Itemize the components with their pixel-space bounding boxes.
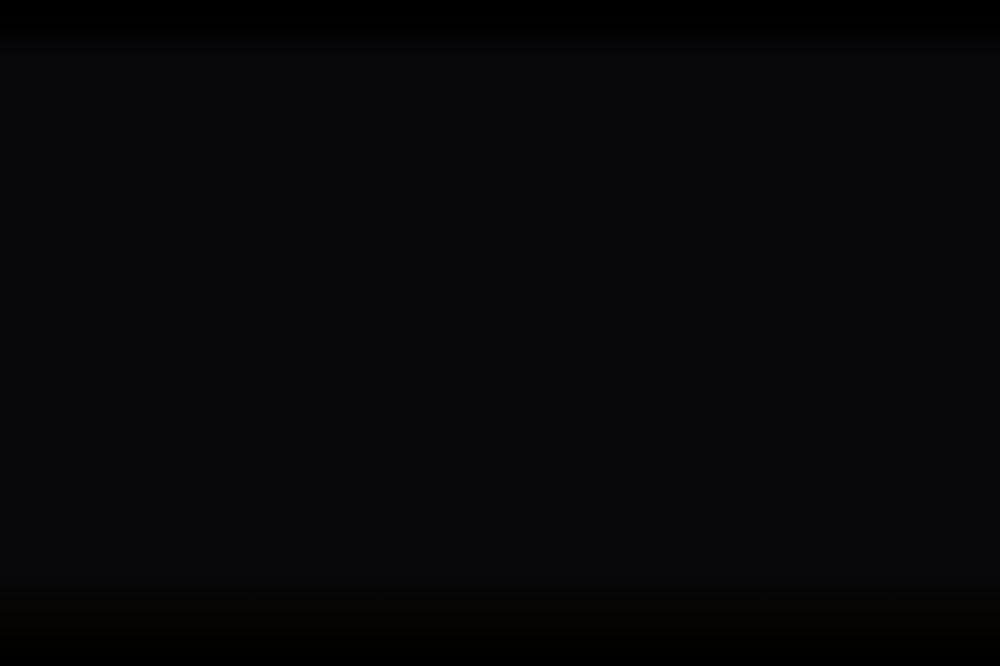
tablet-icon bbox=[463, 380, 486, 412]
tv-sync-highlight-box bbox=[260, 244, 305, 275]
annotation-tablet-sync-text: Syncing tablet to phone bbox=[493, 379, 578, 413]
annotation-pizza: Pizza is almost done bbox=[679, 399, 753, 432]
annotation-tablet-sync: Syncing tablet to phone bbox=[463, 379, 578, 413]
annotation-security-camera: Security camera is on bbox=[909, 252, 954, 323]
door-handle bbox=[57, 321, 65, 351]
welcome-body-line-2: your tablet and TV bbox=[576, 223, 741, 247]
tv-screen-image bbox=[274, 271, 375, 339]
signal-node-center bbox=[532, 209, 567, 244]
annotation-volume-right-line-1: Increasing soccer bbox=[762, 109, 868, 127]
welcome-body-line-1: Syncing your game to bbox=[576, 202, 741, 226]
tv-soccer-player-a bbox=[294, 298, 308, 322]
presenter-glasses bbox=[643, 484, 679, 492]
annotation-tv-sync: Syncing TV with phone bbox=[292, 217, 354, 246]
thermostat-value: 30° bbox=[415, 259, 436, 275]
books-on-ottoman bbox=[144, 492, 217, 515]
speaker-volume-icon bbox=[718, 114, 754, 141]
annotation-tablet-sync-line-1: Syncing tablet bbox=[493, 379, 578, 397]
projection-screen: 30° Tomorrow's home connectivity evoluti… bbox=[0, 0, 1000, 664]
slide-person-right-hand bbox=[885, 383, 907, 409]
annotation-lights: It's getting darker out. Turning on ligh… bbox=[74, 330, 160, 374]
annotation-pizza-line-2: almost done bbox=[680, 415, 754, 432]
welcome-headline: Welcome home, Matt bbox=[575, 171, 792, 202]
annotation-volume-left-text: Increasing soccer game volume bbox=[51, 186, 146, 216]
annotation-volume-left: Increasing soccer game volume bbox=[51, 186, 184, 216]
shield-lock-icon bbox=[0, 290, 11, 315]
annotation-volume-right: Increasing soccer game volume bbox=[718, 109, 868, 144]
annotation-tv-sync-line-1: Syncing TV bbox=[292, 217, 353, 232]
presenter-hands bbox=[648, 580, 678, 600]
annotation-lights-text: It's getting darker out. Turning on ligh… bbox=[74, 330, 160, 374]
tv-soccer-player-c bbox=[339, 299, 351, 322]
presenter bbox=[606, 462, 722, 666]
presenter-jacket-right bbox=[664, 518, 712, 636]
annotation-door-open: Opening door to let in some fresh air bbox=[0, 287, 121, 317]
annotation-fireplace: It's a bit cool out. Turning on the fire… bbox=[391, 294, 520, 324]
annotation-front-door-text: Front door locked bbox=[596, 287, 659, 320]
presenter-leg-separation bbox=[662, 658, 666, 666]
speaker-volume-icon bbox=[153, 189, 183, 212]
smart-speaker bbox=[853, 483, 905, 568]
tablet-on-counter bbox=[408, 428, 494, 462]
pedestal-bowl-stem bbox=[629, 383, 635, 393]
slide-person-with-phone bbox=[776, 196, 939, 489]
tv-soccer-player-b bbox=[317, 302, 329, 325]
annotation-security-camera-text: Security camera is on bbox=[909, 252, 953, 295]
annotation-security-camera-line-2: camera bbox=[909, 266, 953, 281]
wall-television bbox=[269, 266, 380, 344]
thermostat-dial-icon: 30° bbox=[403, 245, 448, 290]
annotation-door-open-line-2: in some fresh air bbox=[18, 301, 120, 317]
annotation-volume-right-text: Increasing soccer game volume bbox=[762, 109, 868, 143]
presenter-hair bbox=[637, 462, 685, 484]
presentation-photo: 30° Tomorrow's home connectivity evoluti… bbox=[0, 0, 1000, 666]
slide-person-legs bbox=[805, 397, 893, 491]
annotation-pizza-text: Pizza is almost done bbox=[679, 399, 753, 432]
annotation-fireplace-text: It's a bit cool out. Turning on the fire… bbox=[391, 294, 520, 324]
presenter-jacket-left bbox=[615, 518, 661, 636]
annotation-lights-line-3: Turning on light. bbox=[74, 358, 160, 374]
knife-block bbox=[585, 316, 620, 369]
annotation-security-camera-line-1: Security bbox=[909, 252, 953, 267]
annotation-tablet-sync-line-2: to phone bbox=[493, 395, 578, 413]
annotation-volume-left-line-2: game volume bbox=[52, 200, 146, 216]
wifi-icon bbox=[910, 300, 942, 323]
tablet-screen bbox=[412, 431, 490, 458]
shield-lock-icon bbox=[565, 291, 588, 318]
slide-person-shirt bbox=[825, 259, 870, 400]
annotation-pizza-line-1: Pizza is bbox=[679, 399, 753, 416]
annotation-fireplace-line-2: Turning on the fireplace. bbox=[392, 308, 521, 324]
annotation-security-camera-line-3: is on bbox=[909, 280, 953, 295]
annotation-front-door: Front door locked bbox=[565, 287, 659, 321]
presenter-lapel-mic bbox=[659, 554, 662, 557]
toaster-slot bbox=[656, 346, 700, 351]
annotation-tv-sync-text: Syncing TV with phone bbox=[292, 217, 354, 246]
annotation-door-open-text: Opening door to let in some fresh air bbox=[18, 287, 121, 317]
annotation-front-door-line-1: Front door bbox=[596, 287, 659, 304]
slide-person-wristband bbox=[883, 375, 905, 382]
annotation-volume-right-line-2: game volume bbox=[762, 125, 868, 143]
tv-console bbox=[270, 344, 385, 392]
annotation-front-door-line-2: locked bbox=[597, 303, 660, 320]
welcome-body: Syncing your game to your tablet and TV bbox=[576, 202, 741, 247]
dried-stems bbox=[226, 343, 241, 385]
lounge-chair-left bbox=[0, 430, 101, 613]
